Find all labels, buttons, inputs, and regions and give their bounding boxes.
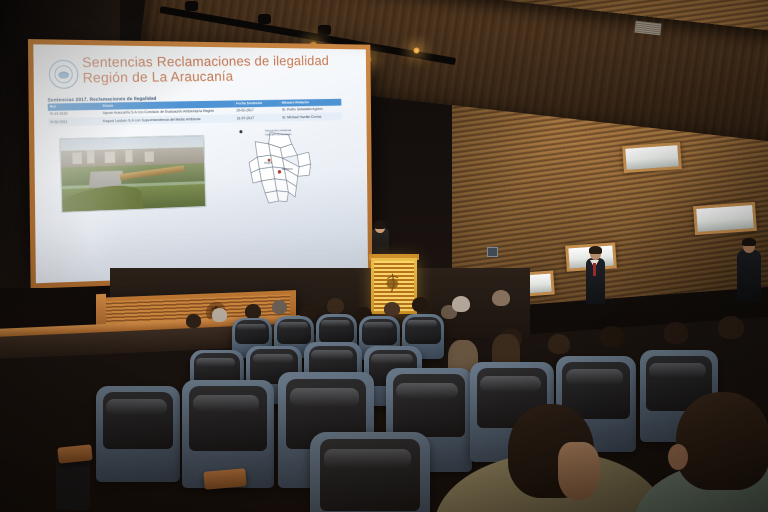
presentation-slide: Sentencias Reclamaciones de ilegalidad R…	[33, 46, 368, 283]
presenter-hair	[374, 220, 386, 229]
foreground-attendee-ear	[668, 444, 688, 470]
seat-armrest	[203, 468, 246, 490]
svg-text:Angol: Angol	[264, 161, 272, 165]
audience-head	[272, 300, 287, 314]
wall-socket-plate	[487, 247, 498, 257]
audience-head	[548, 334, 570, 354]
audience-head	[452, 296, 470, 312]
auditorium-scene: Sentencias Reclamaciones de ilegalidad R…	[0, 0, 768, 512]
slide-region-map: Temuco Angol	[235, 126, 325, 207]
auditorium-seat[interactable]	[310, 432, 430, 512]
slide-aerial-city-photo	[59, 135, 206, 213]
audience-head	[212, 308, 227, 322]
cell-fecha: 31-07-2017	[235, 114, 281, 122]
audience-head	[186, 314, 201, 328]
standing-attendee-hair	[742, 238, 756, 246]
slide-title-line2: Región de La Araucanía	[82, 68, 338, 85]
cell-ministro: Sr. Michael Hantke Corvaz	[280, 113, 342, 122]
audience-area	[0, 276, 768, 512]
map-legend: Tribunal de lo Ambiental Tribunales Comp…	[265, 129, 292, 137]
cell-causa: Kagasi Lautaro S.A con Superintendencia …	[101, 115, 235, 125]
audience-head	[600, 326, 624, 347]
foreground-attendee-face	[558, 442, 600, 500]
wall-window	[622, 142, 682, 173]
audience-head	[492, 290, 510, 306]
audience-head	[664, 322, 688, 344]
slide-title: Sentencias Reclamaciones de ilegalidad R…	[82, 54, 339, 85]
projection-screen-frame: Sentencias Reclamaciones de ilegalidad R…	[28, 39, 373, 289]
wall-window	[693, 202, 757, 235]
audience-head	[384, 302, 400, 316]
audience-head	[718, 316, 744, 339]
standing-attendee-tie	[593, 263, 596, 276]
map-legend-line2: Tribunales Competentes	[265, 133, 292, 137]
audience-head	[327, 298, 344, 314]
map-north-arrow-icon	[239, 130, 242, 133]
audience-head	[412, 297, 429, 312]
institutional-seal-logo	[48, 60, 78, 89]
auditorium-seat[interactable]	[96, 386, 180, 482]
foreground-attendee-head	[676, 392, 768, 490]
slide-title-line1: Sentencias Reclamaciones de ilegalidad	[82, 53, 329, 70]
standing-attendee-hair	[589, 246, 602, 254]
cell-rol: R-50-2011	[48, 117, 101, 126]
track-spotlight-icon	[318, 25, 331, 35]
track-spotlight-icon	[258, 14, 271, 24]
track-spotlight-icon	[185, 1, 198, 11]
slide-data-table: Rol Causa Fecha Sentencia Ministro Redac…	[48, 99, 342, 127]
svg-text:Temuco: Temuco	[281, 167, 293, 171]
audience-head	[245, 304, 261, 319]
projection-screen: Sentencias Reclamaciones de ilegalidad R…	[33, 44, 368, 283]
lit-lamp-icon	[413, 47, 420, 54]
